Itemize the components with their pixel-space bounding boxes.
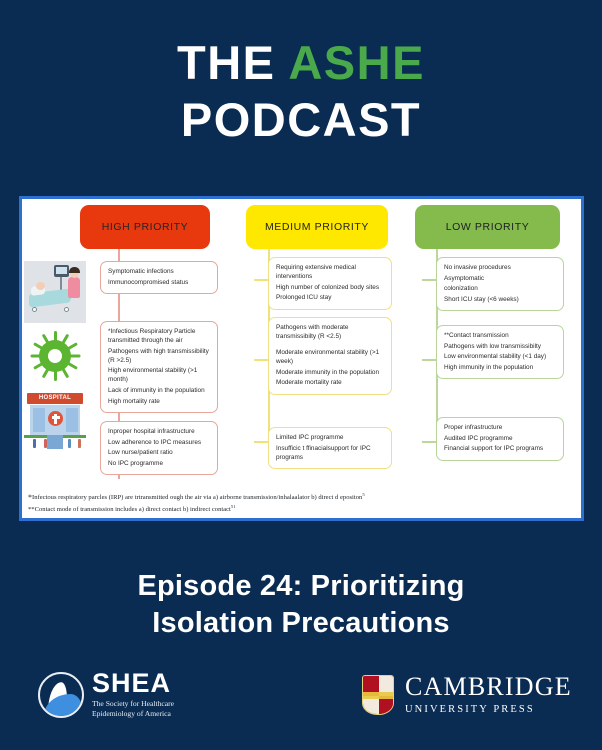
monitor-screen <box>56 267 67 274</box>
list-item: Limited IPC programme <box>276 433 384 442</box>
priority-box-medium-2[interactable]: Pathogens with moderate transmissibilty … <box>268 317 392 395</box>
podcast-title-line-1: THE ASHE <box>0 34 602 91</box>
list-item: **Contact transmission <box>444 331 556 340</box>
patient-bed-illustration <box>24 261 86 323</box>
pedestrian-figure <box>44 439 47 448</box>
box-item-list: No invasive procedures Asymptomatic colo… <box>444 263 556 304</box>
podcast-cover: THE ASHE PODCAST <box>0 0 602 750</box>
patient-head <box>36 282 45 290</box>
virus-center <box>48 349 62 363</box>
list-item: Short ICU stay (<6 weeks) <box>444 295 556 304</box>
priority-box-low-2[interactable]: **Contact transmission Pathogens with lo… <box>436 325 564 379</box>
box-item-list: *Infectious Respiratory Particle transmi… <box>108 327 210 406</box>
list-item: High environmental stability (>1 month) <box>108 366 210 384</box>
cross-icon <box>52 416 60 419</box>
priority-box-low-1[interactable]: No invasive procedures Asymptomatic colo… <box>436 257 564 311</box>
shea-emblem-icon <box>38 672 84 718</box>
priority-header-low[interactable]: LOW PRIORITY <box>415 205 560 249</box>
bed-wheel <box>32 307 37 312</box>
cambridge-logo: CAMBRIDGE UNIVERSITY PRESS <box>362 674 572 715</box>
priority-box-medium-3[interactable]: Limited IPC programme Insufficic t ffina… <box>268 427 392 469</box>
diagram-canvas: HOSPITAL HIGH PRIORITY <box>22 199 581 518</box>
bed-wheel <box>64 307 69 312</box>
list-item: Immunocompromised status <box>108 278 210 287</box>
list-item: Pathogens with moderate transmissibilty … <box>276 323 384 341</box>
list-item: Asymptomatic <box>444 274 556 283</box>
pedestrian-figure <box>78 439 81 448</box>
list-item: Pathogens with low transmissibilty <box>444 342 556 351</box>
list-item: Audited IPC programme <box>444 434 556 443</box>
list-item: Insufficic t ffinacialsupport for IPC pr… <box>276 444 384 462</box>
priority-header-high[interactable]: HIGH PRIORITY <box>80 205 210 249</box>
cambridge-subtitle: UNIVERSITY PRESS <box>405 704 572 715</box>
priority-box-medium-1[interactable]: Requiring extensive medical intervention… <box>268 257 392 310</box>
list-item: No invasive procedures <box>444 263 556 272</box>
hospital-building-illustration: HOSPITAL <box>24 391 86 453</box>
hospital-entrance <box>47 435 63 449</box>
shea-tagline-line-2: Epidemiology of America <box>92 709 174 719</box>
episode-title-line-1: Episode 24: Prioritizing <box>0 568 602 605</box>
list-item: High number of colonized body sites <box>276 283 384 292</box>
episode-title: Episode 24: Prioritizing Isolation Preca… <box>0 568 602 642</box>
box-item-list: Inproper hospital infrastructure Low adh… <box>108 427 210 468</box>
cambridge-wordmark: CAMBRIDGE UNIVERSITY PRESS <box>405 674 572 715</box>
priority-header-medium[interactable]: MEDIUM PRIORITY <box>246 205 388 249</box>
priority-box-high-2[interactable]: *Infectious Respiratory Particle transmi… <box>100 321 218 413</box>
list-item: Low nurse/patient ratio <box>108 448 210 457</box>
shield-bar <box>363 692 393 699</box>
hospital-window <box>33 408 45 432</box>
list-item: High mortality rate <box>108 397 210 406</box>
list-item: Low environmental stability (<1 day) <box>444 352 556 361</box>
priority-box-low-3[interactable]: Proper infrastructure Audited IPC progra… <box>436 417 564 461</box>
footnote-1-ref: 5 <box>362 492 364 497</box>
box-item-list: **Contact transmission Pathogens with lo… <box>444 331 556 372</box>
footnote-1: *Infectous respiratory parcles (IRP) are… <box>28 492 577 504</box>
hospital-sign-label: HOSPITAL <box>27 395 83 401</box>
podcast-title-line-2: PODCAST <box>0 91 602 148</box>
list-item: Lack of immunity in the population <box>108 386 210 395</box>
list-item: Requiring extensive medical intervention… <box>276 263 384 281</box>
list-item: No IPC programme <box>108 459 210 468</box>
shea-name: SHEA <box>92 670 174 697</box>
title-ashe: ASHE <box>288 36 425 89</box>
list-item: Symptomatic infections <box>108 267 210 276</box>
box-item-list: Requiring extensive medical intervention… <box>276 263 384 302</box>
hospital-window <box>66 408 78 432</box>
title-the: THE <box>177 36 288 89</box>
list-item: Inproper hospital infrastructure <box>108 427 210 436</box>
episode-title-line-2: Isolation Precautions <box>0 605 602 642</box>
footnote-2-ref: 51 <box>231 504 236 509</box>
shea-wordmark: SHEA The Society for Healthcare Epidemio… <box>92 670 174 719</box>
pedestrian-figure <box>33 439 36 448</box>
nurse-body <box>68 277 80 298</box>
shea-tagline-line-1: The Society for Healthcare <box>92 699 174 709</box>
virus-illustration <box>24 327 86 385</box>
footnote-1-text: Infectous respiratory parcles (IRP) are … <box>32 494 362 501</box>
cambridge-shield-icon <box>362 675 394 715</box>
cambridge-name: CAMBRIDGE <box>405 674 572 700</box>
list-item: Moderate immunity in the population <box>276 368 384 377</box>
list-item: colonization <box>444 284 556 293</box>
shea-tagline: The Society for Healthcare Epidemiology … <box>92 699 174 719</box>
diagram-footnotes: *Infectous respiratory parcles (IRP) are… <box>28 492 577 515</box>
shea-logo: SHEA The Society for Healthcare Epidemio… <box>38 670 174 719</box>
list-item: Moderate mortality rate <box>276 378 384 387</box>
list-item: Low adherence to IPC measures <box>108 438 210 447</box>
box-item-list: Proper infrastructure Audited IPC progra… <box>444 423 556 453</box>
list-item: *Infectious Respiratory Particle transmi… <box>108 327 210 345</box>
priority-box-high-3[interactable]: Inproper hospital infrastructure Low adh… <box>100 421 218 475</box>
pedestrian-figure <box>68 439 71 448</box>
podcast-title-header: THE ASHE PODCAST <box>0 34 602 149</box>
list-item: Financial support for IPC programs <box>444 444 556 453</box>
priority-diagram-panel: HOSPITAL HIGH PRIORITY <box>19 196 584 521</box>
hospital-sign: HOSPITAL <box>27 393 83 404</box>
priority-box-high-1[interactable]: Symptomatic infections Immunocompromised… <box>100 261 218 294</box>
list-item: Pathogens with high transmissibility (R … <box>108 347 210 365</box>
list-item: Proper infrastructure <box>444 423 556 432</box>
nurse-hair <box>69 267 80 273</box>
box-item-list: Pathogens with moderate transmissibilty … <box>276 323 384 388</box>
list-item: Moderate environmental stability (>1 wee… <box>276 348 384 366</box>
footnote-2-text: **Contact mode of transmission includes … <box>28 506 231 513</box>
box-item-list: Symptomatic infections Immunocompromised… <box>108 267 210 287</box>
footer-logos: SHEA The Society for Healthcare Epidemio… <box>0 668 602 742</box>
box-item-list: Limited IPC programme Insufficic t ffina… <box>276 433 384 462</box>
list-item: Prolonged ICU stay <box>276 293 384 302</box>
list-item: High immunity in the population <box>444 363 556 372</box>
footnote-2: **Contact mode of transmission includes … <box>28 504 577 515</box>
